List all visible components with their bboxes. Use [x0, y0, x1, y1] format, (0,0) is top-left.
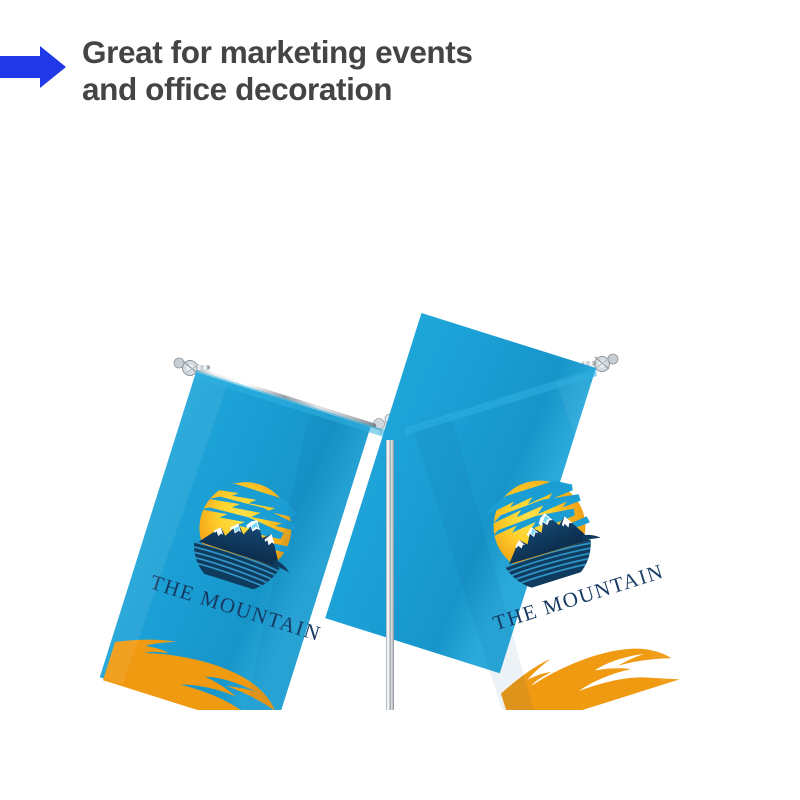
flag-right: THE MOUNTAIN [325, 313, 696, 710]
arrow-right-icon [0, 44, 78, 90]
page-title: Great for marketing events and office de… [82, 34, 473, 107]
product-feature-slide: Great for marketing events and office de… [0, 0, 800, 800]
chrome-pole-front [386, 440, 394, 710]
flag-left: THE MOUNTAIN [99, 370, 386, 710]
product-image: THE MOUNTAIN [0, 150, 800, 710]
headline-row: Great for marketing events and office de… [0, 34, 800, 107]
